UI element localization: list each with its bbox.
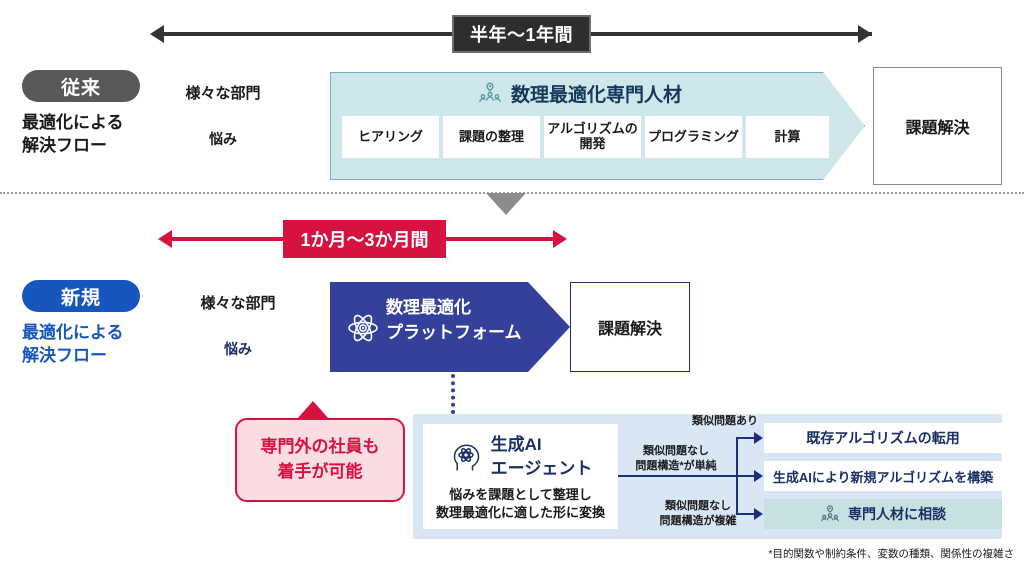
- timeline-new-duration-badge: 1か月～3か月間: [283, 220, 446, 258]
- dotted-connector: [451, 374, 455, 414]
- platform-label: 数理最適化 プラットフォーム: [386, 296, 536, 358]
- row-label-new-line1: 最適化による: [22, 322, 182, 345]
- triangle-down-icon: [486, 193, 526, 215]
- branch-condition-line2: 問題構造*が単純: [618, 459, 734, 474]
- specialist-process-heading-text: 数理最適化専門人材: [511, 80, 682, 107]
- specialist-process-heading: 数理最適化専門人材: [330, 80, 830, 106]
- branch-line: [736, 475, 756, 477]
- callout-line2: 着手が可能: [278, 460, 363, 485]
- ai-head-atom-icon: [449, 440, 483, 474]
- branch-result-box: 生成AIにより新規アルゴリズムを構築: [764, 461, 1002, 491]
- arrow-right-icon: [754, 432, 763, 444]
- diagram-canvas: 半年～1年間 従来 最適化による 解決フロー 様々な部門 悩み 数理最適化専門人…: [0, 0, 1024, 574]
- arrow-left-icon: [158, 230, 172, 248]
- branch-condition-line1: 類似問題あり: [672, 414, 778, 429]
- atom-icon: [345, 310, 381, 346]
- specialist-people-icon: [478, 81, 502, 105]
- ai-agent-title-line2: エージェント: [491, 457, 593, 481]
- specialist-people-icon: [820, 504, 840, 524]
- ai-agent-description: 悩みを課題として整理し 数理最適化に適した形に変換: [423, 485, 618, 523]
- branch-result-box: 既存アルゴリズムの転用: [764, 423, 1002, 453]
- process-step-line1: アルゴリズムの: [547, 122, 638, 137]
- branch-condition-label: 類似問題あり: [672, 414, 778, 430]
- result-box-new: 課題解決: [570, 282, 690, 372]
- process-step: 課題の整理: [443, 116, 540, 158]
- branch-condition-line2: 問題構造が複雑: [640, 514, 756, 529]
- row-label-old-line2: 解決フロー: [22, 135, 182, 158]
- branch-condition-line1: 類似問題なし: [618, 444, 734, 459]
- callout-box: 専門外の社員も 着手が可能: [235, 418, 405, 502]
- result-box-old: 課題解決: [873, 67, 1002, 185]
- dept-old-title: 様々な部門: [163, 82, 283, 102]
- platform-label-line1: 数理最適化: [386, 296, 471, 321]
- row-badge-new: 新規: [22, 280, 140, 312]
- dept-old-concern-box: 悩み: [171, 117, 275, 161]
- row-label-old: 最適化による 解決フロー: [22, 112, 182, 158]
- ai-agent-title-text: 生成AI エージェント: [491, 433, 593, 481]
- ai-agent-description-line1: 悩みを課題として整理し: [449, 486, 592, 504]
- callout-line1: 専門外の社員も: [261, 435, 380, 460]
- row-label-old-line1: 最適化による: [22, 112, 182, 135]
- footnote: *目的関数や制約条件、変数の種類、関係性の複雑さ: [742, 545, 1014, 561]
- ai-agent-description-line2: 数理最適化に適した形に変換: [436, 504, 605, 522]
- branch-result-text: 専門人材に相談: [848, 504, 946, 524]
- triangle-up-icon: [297, 401, 329, 419]
- process-step: アルゴリズムの 開発: [544, 116, 641, 158]
- process-step: ヒアリング: [342, 116, 439, 158]
- process-step: 計算: [746, 116, 829, 158]
- timeline-old-duration-badge: 半年～1年間: [452, 15, 591, 53]
- branch-line: [736, 437, 756, 439]
- platform-label-line2: プラットフォーム: [386, 321, 522, 346]
- arrow-right-icon: [858, 25, 872, 43]
- branch-condition-label: 類似問題なし 問題構造*が単純: [618, 444, 734, 476]
- arrow-right-icon: [754, 470, 763, 482]
- row-label-new: 最適化による 解決フロー: [22, 322, 182, 368]
- arrow-left-icon: [150, 25, 164, 43]
- process-step-line2: 開発: [579, 137, 605, 152]
- row-badge-old: 従来: [22, 70, 140, 102]
- arrow-right-icon: [553, 230, 567, 248]
- ai-agent-title-line1: 生成AI: [491, 433, 593, 457]
- branch-result-box: 専門人材に相談: [764, 499, 1002, 529]
- dept-new-title: 様々な部門: [178, 292, 298, 312]
- branch-condition-line1: 類似問題なし: [640, 499, 756, 514]
- ai-agent-title: 生成AI エージェント: [423, 432, 618, 482]
- process-step: プログラミング: [645, 116, 742, 158]
- branch-condition-label: 類似問題なし 問題構造が複雑: [640, 499, 756, 531]
- dept-new-concern-box: 悩み: [186, 327, 290, 371]
- row-label-new-line2: 解決フロー: [22, 345, 182, 368]
